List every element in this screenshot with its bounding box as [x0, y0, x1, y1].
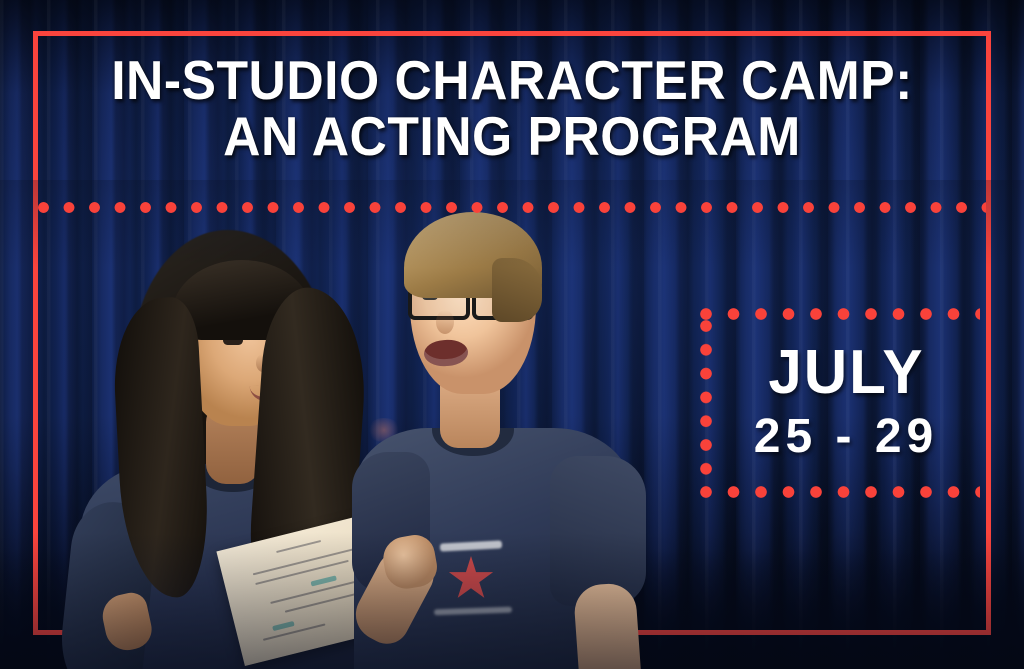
girl-student: [60, 202, 390, 669]
date-badge-text: JULY 25 - 29: [712, 320, 980, 486]
date-badge-dots-bottom: [700, 486, 980, 498]
date-badge: JULY 25 - 29: [700, 308, 980, 498]
boy-student: [352, 180, 682, 669]
title-line-2: AN ACTING PROGRAM: [31, 108, 994, 164]
boy-hair-side: [492, 258, 542, 322]
dotted-divider: [38, 202, 986, 213]
title-line-1: IN-STUDIO CHARACTER CAMP:: [111, 49, 913, 111]
date-badge-dots-left: [700, 320, 712, 486]
event-poster: IN-STUDIO CHARACTER CAMP: AN ACTING PROG…: [0, 0, 1024, 669]
date-badge-dots-top: [700, 308, 980, 320]
page-title: IN-STUDIO CHARACTER CAMP: AN ACTING PROG…: [31, 52, 994, 164]
boy-right-sleeve: [550, 456, 646, 606]
boy-nose: [436, 310, 454, 334]
date-days: 25 - 29: [754, 410, 938, 464]
date-month: JULY: [768, 342, 924, 404]
